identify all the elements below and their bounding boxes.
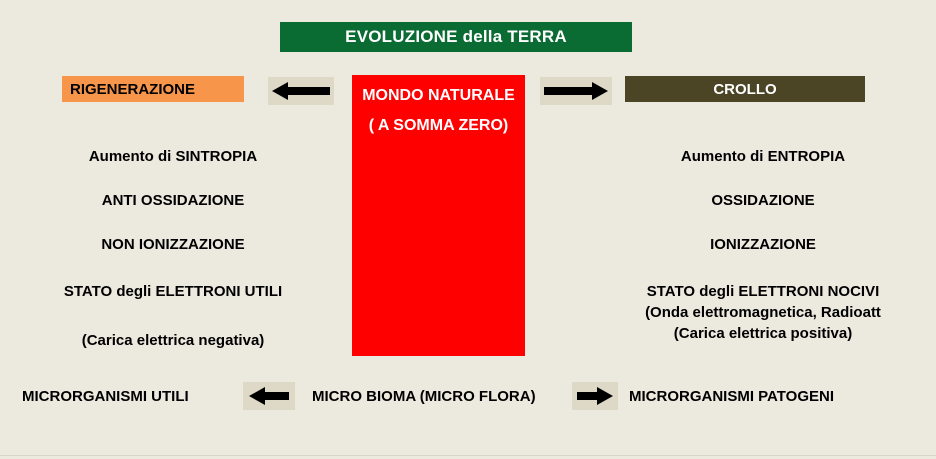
right-item-carica-positiva: (Carica elettrica positiva)	[598, 325, 928, 342]
bottom-label-microrganismi-patogeni: MICRORGANISMI PATOGENI	[629, 384, 834, 408]
arrow-left-icon	[249, 386, 289, 406]
right-item-ossidazione: OSSIDAZIONE	[598, 192, 928, 209]
arrow-right-bottom	[572, 382, 618, 410]
right-branch-items: Aumento di ENTROPIA OSSIDAZIONE IONIZZAZ…	[598, 140, 928, 342]
arrow-left-to-rigenerazione	[268, 77, 334, 105]
right-branch-header-crollo: CROLLO	[625, 76, 865, 102]
bottom-divider	[0, 455, 936, 456]
evolution-diagram: EVOLUZIONE della TERRA RIGENERAZIONE MON…	[0, 0, 936, 459]
arrow-right-to-crollo	[540, 77, 612, 105]
right-item-onda-elettromagnetica: (Onda elettromagnetica, Radioatt	[598, 304, 928, 321]
left-item-non-ionizzazione: NON IONIZZAZIONE	[8, 236, 338, 253]
center-block-mondo-naturale: MONDO NATURALE ( A SOMMA ZERO)	[352, 75, 525, 356]
right-item-elettroni-nocivi: STATO degli ELETTRONI NOCIVI	[598, 283, 928, 300]
arrow-right-icon	[577, 386, 613, 406]
diagram-title-banner: EVOLUZIONE della TERRA	[280, 22, 632, 52]
arrow-left-bottom	[243, 382, 295, 410]
center-title-line2: ( A SOMMA ZERO)	[352, 111, 525, 141]
right-item-ionizzazione: IONIZZAZIONE	[598, 236, 928, 253]
center-title-line1: MONDO NATURALE	[352, 81, 525, 111]
left-item-sintropia: Aumento di SINTROPIA	[8, 148, 338, 165]
left-branch-items: Aumento di SINTROPIA ANTI OSSIDAZIONE NO…	[8, 140, 338, 349]
left-item-elettroni-utili: STATO degli ELETTRONI UTILI	[8, 283, 338, 300]
arrow-left-icon	[272, 81, 330, 101]
bottom-label-micro-bioma: MICRO BIOMA (MICRO FLORA)	[312, 384, 536, 408]
bottom-label-microrganismi-utili: MICRORGANISMI UTILI	[22, 384, 189, 408]
left-item-carica-negativa: (Carica elettrica negativa)	[8, 332, 338, 349]
arrow-right-icon	[544, 81, 608, 101]
left-branch-header-rigenerazione: RIGENERAZIONE	[62, 76, 244, 102]
left-item-anti-ossidazione: ANTI OSSIDAZIONE	[8, 192, 338, 209]
right-item-entropia: Aumento di ENTROPIA	[598, 148, 928, 165]
